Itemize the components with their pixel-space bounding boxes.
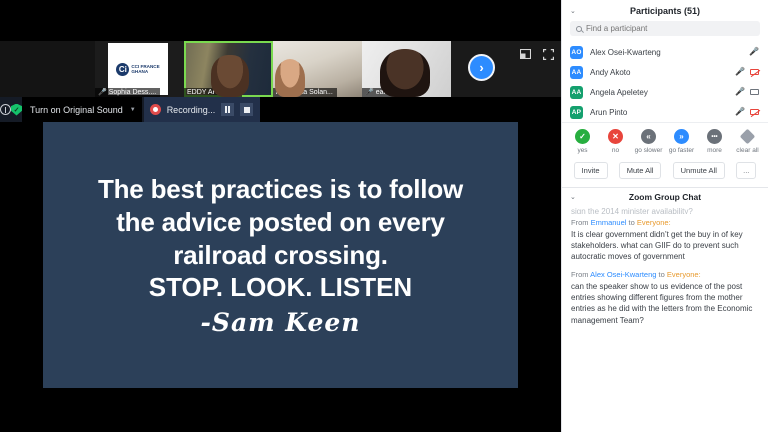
- unmute-all-button[interactable]: Unmute All: [673, 162, 725, 179]
- chat-message: From Alex Osei-Kwarteng to Everyone: can…: [571, 270, 759, 326]
- chat-recipient: Everyone:: [637, 218, 671, 227]
- mic-muted-icon[interactable]: 🎤: [735, 108, 745, 116]
- reaction-go-slower-button[interactable]: « go slower: [633, 129, 664, 154]
- shield-icon[interactable]: ✓: [11, 97, 22, 122]
- reaction-yes-button[interactable]: ✓ yes: [567, 129, 598, 154]
- chevron-down-icon: ▼: [130, 107, 136, 113]
- tile-name-label: 🎤 Sophia Dess....: [95, 88, 160, 97]
- video-tile-eansah[interactable]: 🎤 eansah: [362, 41, 451, 97]
- ellipsis-icon: •••: [707, 129, 722, 144]
- participant-search-box[interactable]: [570, 21, 760, 36]
- reaction-label: yes: [577, 147, 587, 154]
- reaction-clear-all-button[interactable]: clear all: [732, 129, 763, 154]
- info-icon[interactable]: [0, 97, 11, 122]
- fullscreen-icon[interactable]: [543, 49, 554, 60]
- reaction-label: go faster: [669, 147, 694, 154]
- camera-on-icon[interactable]: [750, 89, 759, 95]
- search-icon: [576, 26, 582, 32]
- participants-panel-header: ⌄ Participants (51): [562, 0, 768, 21]
- chat-sender-name: Emmanuel: [591, 218, 627, 227]
- tile-participant-name: EDDY AKRONG: [187, 89, 238, 96]
- next-page-arrow-icon[interactable]: ›: [468, 54, 495, 81]
- tile-participant-name: Anne-Rita Solan...: [276, 89, 333, 96]
- logo-text: CCI FRANCE GHANA: [131, 64, 159, 75]
- quote-line-4: STOP. LOOK. LISTEN: [149, 271, 412, 304]
- tile-name-label: Anne-Rita Solan...: [273, 88, 337, 97]
- reaction-label: more: [707, 147, 722, 154]
- double-chevron-right-icon: »: [674, 129, 689, 144]
- right-side-panel: ⌄ Participants (51) AO Alex Osei-Kwarten…: [561, 0, 768, 432]
- zoom-meeting-window: Ci CCI FRANCE GHANA 🎤 Sophia Dess.... ED…: [0, 0, 768, 432]
- camera-off-icon[interactable]: [750, 109, 759, 115]
- filmstrip-left-pad: [0, 41, 95, 97]
- participant-name: Andy Akoto: [590, 68, 728, 77]
- camera-off-icon[interactable]: [750, 69, 759, 75]
- participant-search-wrapper: [562, 21, 768, 42]
- avatar: AO: [570, 46, 583, 59]
- chat-panel-header: ⌄ Zoom Group Chat: [562, 187, 768, 205]
- shared-screen-slide: The best practices is to follow the advi…: [43, 122, 518, 388]
- original-sound-dropdown[interactable]: Turn on Original Sound ▼: [22, 97, 142, 122]
- avatar: AA: [570, 86, 583, 99]
- chat-message-clipped: sign the 2014 minister availability?: [571, 207, 759, 214]
- participant-row[interactable]: AA Angela Apeletey 🎤: [562, 82, 768, 102]
- avatar: AP: [570, 106, 583, 119]
- chat-message-text: It is clear government didn’t get the bu…: [571, 229, 759, 263]
- reaction-go-faster-button[interactable]: » go faster: [666, 129, 697, 154]
- participant-status-icons: 🎤: [735, 108, 759, 116]
- participant-status-icons: 🎤: [735, 88, 759, 96]
- quote-line-2: the advice posted on every: [116, 206, 445, 239]
- video-tile-sophia-dess[interactable]: Ci CCI FRANCE GHANA 🎤 Sophia Dess....: [95, 41, 184, 97]
- participants-action-buttons: Invite Mute All Unmute All ...: [562, 159, 768, 187]
- video-tile-eddy-akrong[interactable]: EDDY AKRONG: [184, 41, 273, 97]
- chat-message: From Emmanuel to Everyone: It is clear g…: [571, 218, 759, 263]
- to-word: to: [659, 270, 665, 279]
- logo-line-2: GHANA: [131, 69, 159, 74]
- diamond-icon: [740, 129, 756, 145]
- chevron-down-icon[interactable]: ⌄: [570, 7, 576, 15]
- close-icon: ✕: [608, 129, 623, 144]
- participant-row[interactable]: AO Alex Osei-Kwarteng 🎤: [562, 42, 768, 62]
- participants-panel-title: Participants (51): [562, 6, 768, 16]
- filmstrip-tail: ›: [451, 41, 561, 97]
- chevron-down-icon[interactable]: ⌄: [570, 193, 576, 201]
- to-word: to: [629, 218, 635, 227]
- chat-panel-title: Zoom Group Chat: [562, 192, 768, 202]
- tile-participant-name: Sophia Dess....: [109, 89, 156, 96]
- check-icon: ✓: [575, 129, 590, 144]
- meeting-control-bar: ✓ Turn on Original Sound ▼ Recording...: [0, 97, 252, 122]
- participant-name: Angela Apeletey: [590, 88, 728, 97]
- chat-message-sender-line: From Alex Osei-Kwarteng to Everyone:: [571, 270, 759, 280]
- avatar: AA: [570, 66, 583, 79]
- logo-mark: Ci: [116, 63, 129, 76]
- video-tile-anne-rita-solan[interactable]: Anne-Rita Solan...: [273, 41, 362, 97]
- recording-dot-icon: [150, 104, 161, 115]
- reaction-label: no: [612, 147, 619, 154]
- reaction-no-button[interactable]: ✕ no: [600, 129, 631, 154]
- video-filmstrip: Ci CCI FRANCE GHANA 🎤 Sophia Dess.... ED…: [0, 41, 561, 97]
- mic-muted-icon: 🎤: [98, 89, 107, 96]
- chat-messages-list[interactable]: sign the 2014 minister availability? Fro…: [562, 205, 768, 432]
- tile-name-label: EDDY AKRONG: [184, 88, 242, 97]
- quote-line-1: The best practices is to follow: [98, 173, 463, 206]
- quote-line-3: railroad crossing.: [173, 239, 388, 272]
- tile-name-label: 🎤 eansah: [362, 88, 403, 97]
- recording-label: Recording...: [167, 105, 216, 115]
- participant-name: Alex Osei-Kwarteng: [590, 48, 742, 57]
- pip-icon[interactable]: [520, 49, 531, 59]
- from-prefix: From: [571, 270, 589, 279]
- reaction-label: go slower: [635, 147, 663, 154]
- participants-list[interactable]: AO Alex Osei-Kwarteng 🎤 AA Andy Akoto 🎤 …: [562, 42, 768, 122]
- more-options-button[interactable]: ...: [736, 162, 756, 179]
- chat-message-text: can the speaker show to us evidence of t…: [571, 281, 759, 326]
- mic-muted-icon[interactable]: 🎤: [735, 68, 745, 76]
- participant-name: Arun Pinto: [590, 108, 728, 117]
- double-chevron-left-icon: «: [641, 129, 656, 144]
- quote-attribution: -Sam Keen: [201, 308, 361, 337]
- filmstrip-window-controls: [520, 41, 554, 67]
- chat-sender-name: Alex Osei-Kwarteng: [590, 270, 656, 279]
- mute-all-button[interactable]: Mute All: [619, 162, 662, 179]
- reaction-more-button[interactable]: ••• more: [699, 129, 730, 154]
- participant-status-icons: 🎤: [735, 68, 759, 76]
- tile-participant-name: eansah: [376, 89, 399, 96]
- reaction-label: clear all: [736, 147, 758, 154]
- stop-recording-button[interactable]: [240, 103, 253, 116]
- participant-row[interactable]: AP Arun Pinto 🎤: [562, 102, 768, 122]
- meeting-stage: Ci CCI FRANCE GHANA 🎤 Sophia Dess.... ED…: [0, 0, 561, 432]
- mic-muted-icon[interactable]: 🎤: [735, 88, 745, 96]
- participant-row[interactable]: AA Andy Akoto 🎤: [562, 62, 768, 82]
- participant-status-icons: 🎤: [749, 48, 759, 56]
- from-prefix: From: [571, 218, 589, 227]
- reactions-bar: ✓ yes ✕ no « go slower » go faster ••• m…: [562, 122, 768, 159]
- chat-message-sender-line: From Emmanuel to Everyone:: [571, 218, 759, 228]
- pause-recording-button[interactable]: [221, 103, 234, 116]
- mic-muted-icon: 🎤: [365, 89, 374, 96]
- chat-recipient: Everyone:: [667, 270, 701, 279]
- recording-indicator: Recording...: [144, 97, 261, 122]
- original-sound-label: Turn on Original Sound: [30, 105, 123, 115]
- mic-muted-icon[interactable]: 🎤: [749, 48, 759, 56]
- invite-button[interactable]: Invite: [574, 162, 608, 179]
- search-input[interactable]: [586, 24, 754, 33]
